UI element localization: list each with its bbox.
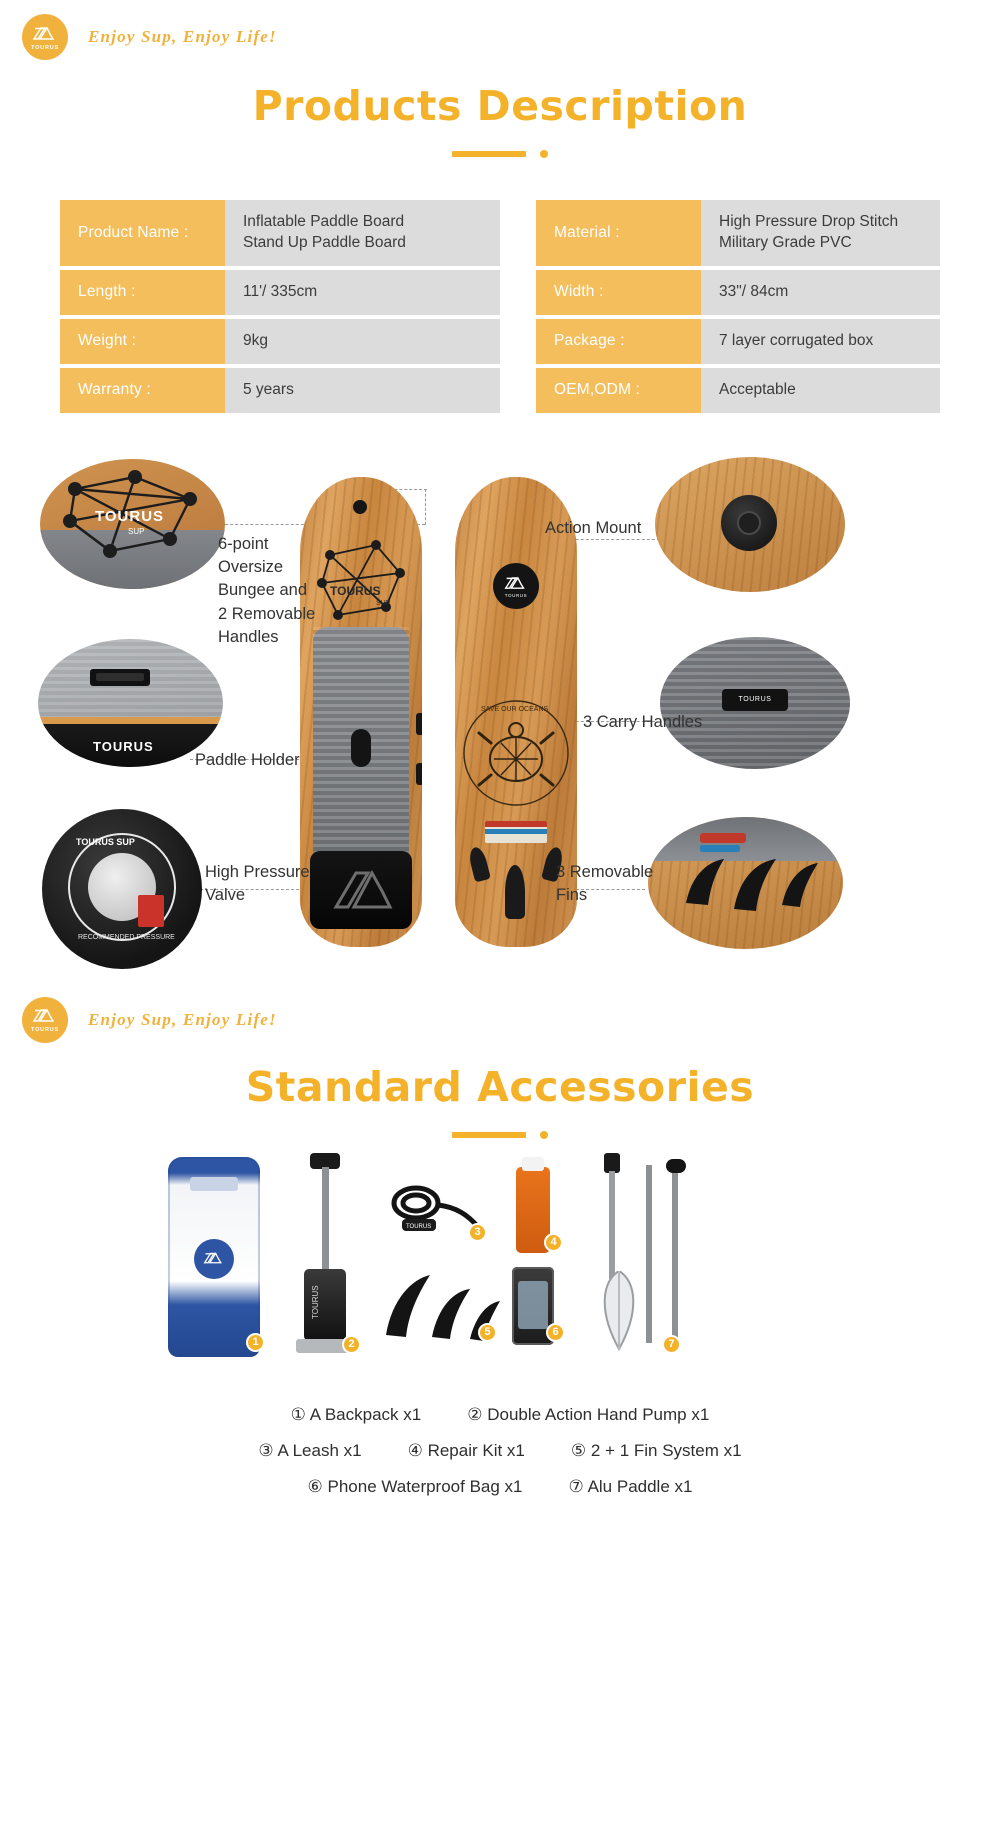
title-divider: [0, 150, 1000, 158]
spec-value-length: 11'/ 335cm: [225, 270, 500, 315]
brand-banner-top: TOURUS Enjoy Sup, Enjoy Life!: [0, 0, 1000, 60]
page-title: Products Description: [0, 82, 1000, 130]
spec-value-package: 7 layer corrugated box: [701, 319, 940, 364]
accessory-backpack: [168, 1157, 260, 1357]
legend-text: Phone Waterproof Bag x1: [328, 1477, 523, 1496]
leader-line: [425, 489, 426, 525]
photo-carry-handle: TOURUS: [660, 637, 850, 769]
callout-fins: 3 Removable Fins: [556, 861, 676, 908]
legend-item-alu-paddle: ⑦ Alu Paddle x1: [569, 1477, 693, 1497]
spec-value-line: Inflatable Paddle Board: [243, 212, 482, 233]
callout-line: Valve: [205, 884, 335, 907]
callout-line: High Pressure: [205, 861, 335, 884]
tourus-logo: TOURUS: [22, 997, 68, 1043]
svg-text:SUP: SUP: [376, 600, 391, 607]
accessory-badge-5: 5: [478, 1323, 497, 1342]
legend-item-fin-system: ⑤ 2 + 1 Fin System x1: [571, 1441, 742, 1461]
spec-value-width: 33"/ 84cm: [701, 270, 940, 315]
legend-item-phone-bag: ⑥ Phone Waterproof Bag x1: [308, 1477, 523, 1497]
svg-text:TOURUS: TOURUS: [93, 739, 154, 754]
fin-center: [505, 865, 525, 919]
accessory-badge-1: 1: [246, 1333, 265, 1352]
callout-line: Bungee and: [218, 579, 338, 602]
table-gap: [500, 200, 536, 266]
table-row: Length : 11'/ 335cm Width : 33"/ 84cm: [60, 270, 940, 315]
legend-item-backpack: ① A Backpack x1: [291, 1405, 422, 1425]
table-gap: [500, 270, 536, 315]
accessories-title: Standard Accessories: [0, 1063, 1000, 1111]
legend-number: ⑦: [569, 1477, 584, 1496]
spec-value-product-name: Inflatable Paddle Board Stand Up Paddle …: [225, 200, 500, 266]
logo-wordmark: TOURUS: [31, 1027, 59, 1033]
accessory-badge-2: 2: [342, 1335, 361, 1354]
svg-text:TOURUS: TOURUS: [406, 1224, 431, 1230]
spec-key-oem-odm: OEM,ODM :: [536, 368, 701, 413]
callout-line: Handles: [218, 626, 338, 649]
photo-high-pressure-valve: TOURUS SUP RECOMMENDED PRESSURE: [42, 809, 202, 969]
accessory-hand-pump: TOURUS: [296, 1153, 354, 1358]
spec-key-package: Package :: [536, 319, 701, 364]
spec-key-length: Length :: [60, 270, 225, 315]
legend-number: ④: [408, 1441, 423, 1460]
spec-value-line: High Pressure Drop Stitch: [719, 212, 922, 233]
legend-number: ⑥: [308, 1477, 323, 1496]
accessories-gallery: 1 TOURUS 2 TOURUS 3 5: [0, 1145, 1000, 1395]
brand-tagline: Enjoy Sup, Enjoy Life!: [88, 1010, 277, 1030]
legend-row: ① A Backpack x1 ② Double Action Hand Pum…: [120, 1405, 880, 1425]
callout-action-mount: Action Mount: [545, 517, 641, 540]
svg-text:TOURUS: TOURUS: [311, 1285, 320, 1319]
accessory-badge-6: 6: [546, 1323, 565, 1342]
standard-accessories-header: Standard Accessories: [0, 1063, 1000, 1139]
accessory-badge-3: 3: [468, 1223, 487, 1242]
callout-valve: High Pressure Valve: [205, 861, 335, 908]
table-row: Product Name : Inflatable Paddle Board S…: [60, 200, 940, 266]
svg-text:RECOMMENDED PRESSURE: RECOMMENDED PRESSURE: [78, 934, 175, 941]
spec-value-material: High Pressure Drop Stitch Military Grade…: [701, 200, 940, 266]
legend-row: ③ A Leash x1 ④ Repair Kit x1 ⑤ 2 + 1 Fin…: [120, 1441, 880, 1461]
accessories-legend: ① A Backpack x1 ② Double Action Hand Pum…: [120, 1405, 880, 1497]
tourus-monogram-icon: [30, 24, 60, 44]
spec-key-weight: Weight :: [60, 319, 225, 364]
svg-text:SUP: SUP: [128, 527, 144, 536]
table-row: Weight : 9kg Package : 7 layer corrugate…: [60, 319, 940, 364]
spec-value-oem-odm: Acceptable: [701, 368, 940, 413]
callout-paddle-holder: Paddle Holder: [195, 749, 300, 772]
legend-item-repair-kit: ④ Repair Kit x1: [408, 1441, 525, 1461]
spec-key-product-name: Product Name :: [60, 200, 225, 266]
svg-text:TOURUS: TOURUS: [95, 508, 164, 525]
table-row: Warranty : 5 years OEM,ODM : Acceptable: [60, 368, 940, 413]
divider-dot: [540, 1131, 548, 1139]
legend-number: ②: [467, 1405, 482, 1424]
spec-key-warranty: Warranty :: [60, 368, 225, 413]
accessory-badge-7: 7: [662, 1335, 681, 1354]
spec-key-material: Material :: [536, 200, 701, 266]
photo-action-mount: [655, 457, 845, 592]
legend-item-leash: ③ A Leash x1: [258, 1441, 361, 1461]
photo-paddle-holder: TOURUS: [38, 639, 223, 767]
svg-text:TOURUS SUP: TOURUS SUP: [76, 837, 135, 847]
tourus-monogram-icon: [30, 1006, 60, 1026]
legend-item-hand-pump: ② Double Action Hand Pump x1: [467, 1405, 709, 1425]
divider-dot: [540, 150, 548, 158]
brand-banner-bottom: TOURUS Enjoy Sup, Enjoy Life!: [0, 989, 1000, 1043]
brand-tagline: Enjoy Sup, Enjoy Life!: [88, 27, 277, 47]
legend-row: ⑥ Phone Waterproof Bag x1 ⑦ Alu Paddle x…: [120, 1477, 880, 1497]
title-divider: [0, 1131, 1000, 1139]
callout-bungee: 6-point Oversize Bungee and 2 Removable …: [218, 533, 338, 650]
feature-diagram: TOURUS SUP TOURUS TOURUS SUP RECOMMENDED…: [0, 449, 1000, 989]
legend-number: ⑤: [571, 1441, 586, 1460]
spec-value-line: Stand Up Paddle Board: [243, 233, 482, 254]
table-gap: [500, 368, 536, 413]
photo-bungee-closeup: TOURUS SUP: [40, 459, 225, 589]
callout-line: Fins: [556, 884, 676, 907]
divider-bar: [452, 151, 526, 157]
spec-value-line: Military Grade PVC: [719, 233, 922, 254]
callout-carry-handles: 3 Carry Handles: [583, 711, 702, 734]
spec-value-weight: 9kg: [225, 319, 500, 364]
legend-text: Double Action Hand Pump x1: [487, 1405, 709, 1424]
legend-text: 2 + 1 Fin System x1: [591, 1441, 742, 1460]
photo-removable-fins: [648, 817, 843, 949]
products-description-header: Products Description: [0, 82, 1000, 158]
callout-line: 2 Removable: [218, 603, 338, 626]
tourus-logo: TOURUS: [22, 14, 68, 60]
legend-text: Repair Kit x1: [428, 1441, 525, 1460]
legend-text: A Backpack x1: [310, 1405, 422, 1424]
svg-text:SAVE OUR OCEANS: SAVE OUR OCEANS: [481, 706, 548, 713]
callout-line: 3 Removable: [556, 861, 676, 884]
spec-value-warranty: 5 years: [225, 368, 500, 413]
accessory-badge-4: 4: [544, 1233, 563, 1252]
specifications-table: Product Name : Inflatable Paddle Board S…: [60, 196, 940, 417]
legend-number: ③: [258, 1441, 273, 1460]
legend-text: Alu Paddle x1: [588, 1477, 693, 1496]
divider-bar: [452, 1132, 526, 1138]
legend-number: ①: [291, 1405, 306, 1424]
table-gap: [500, 319, 536, 364]
legend-text: A Leash x1: [277, 1441, 361, 1460]
logo-wordmark: TOURUS: [31, 45, 59, 51]
accessory-alu-paddle: [596, 1153, 686, 1353]
callout-line: 6-point Oversize: [218, 533, 338, 580]
spec-key-width: Width :: [536, 270, 701, 315]
